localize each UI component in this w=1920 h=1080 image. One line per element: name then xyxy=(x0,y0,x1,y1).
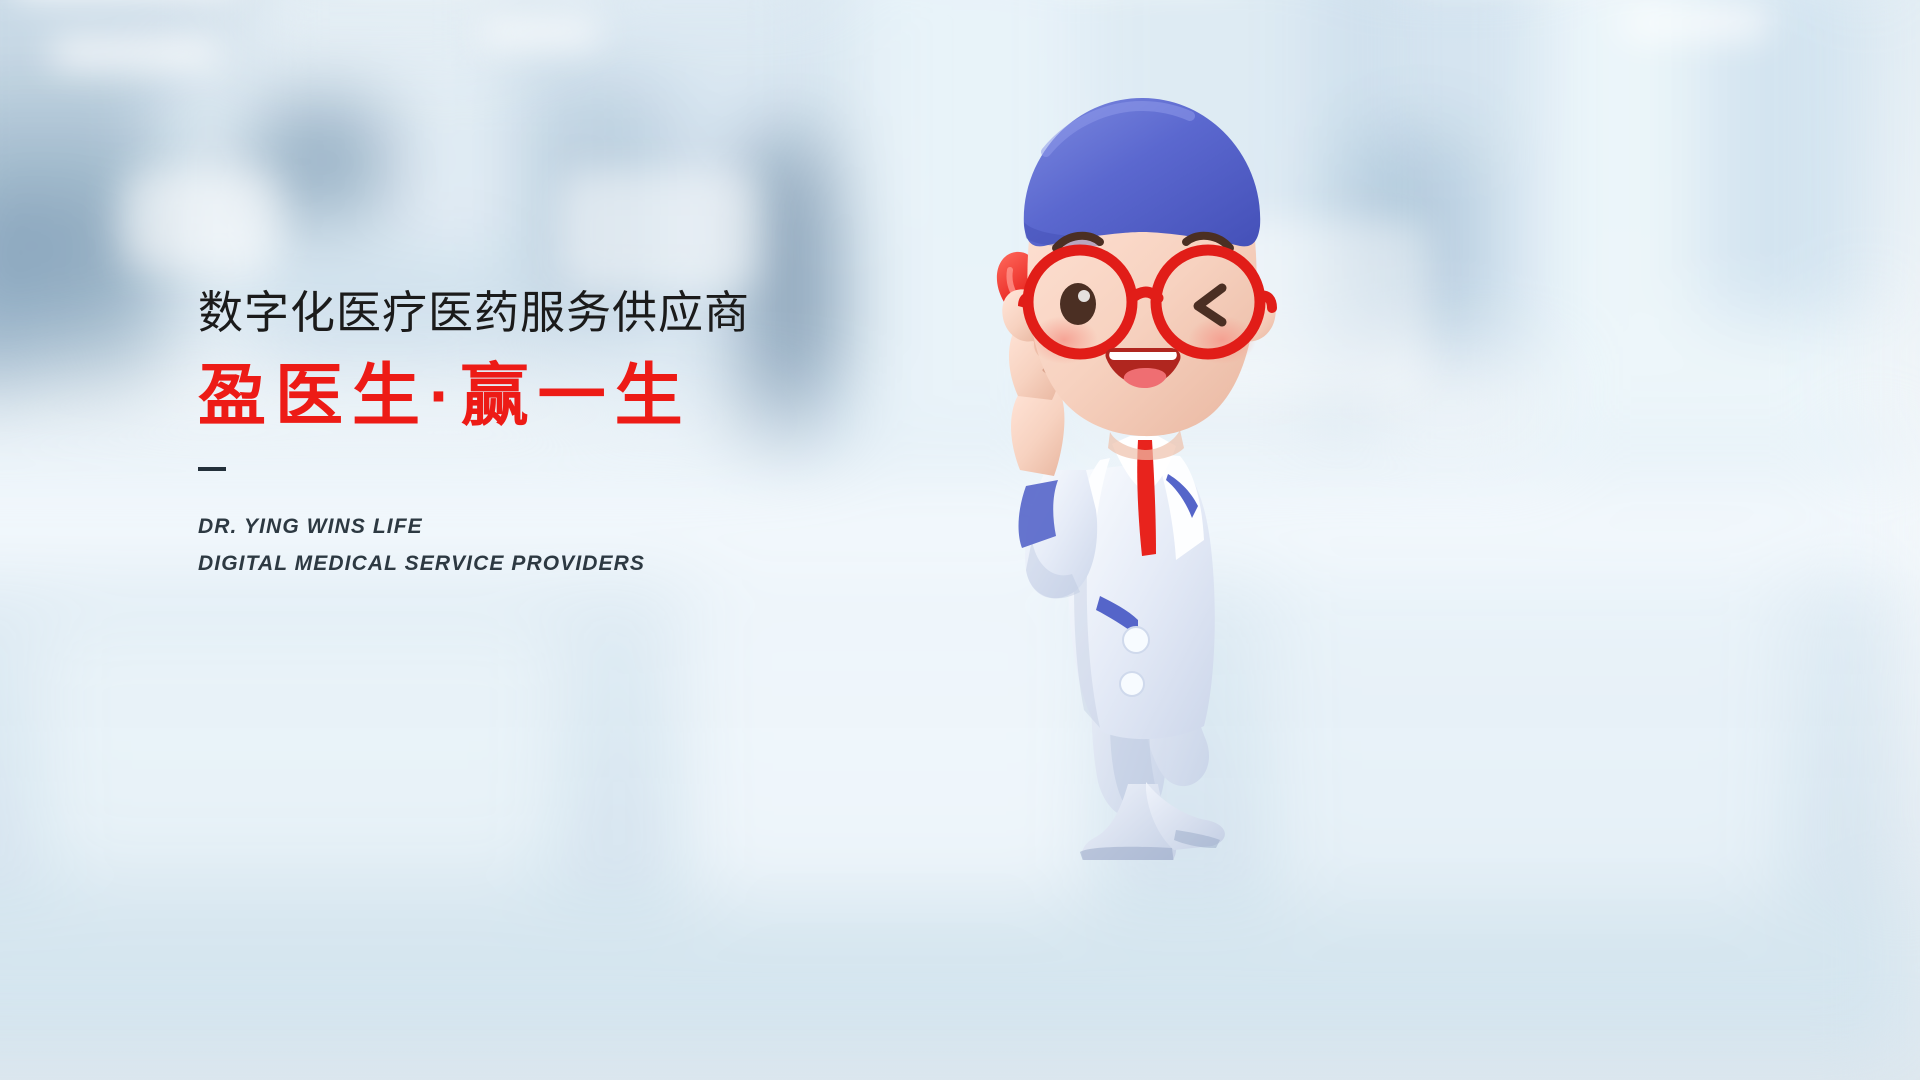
subtitle-block: DR. YING WINS LIFE DIGITAL MEDICAL SERVI… xyxy=(198,509,958,583)
divider-dash xyxy=(198,467,226,471)
hero-banner: 数字化医疗医药服务供应商 盈医生·赢一生 DR. YING WINS LIFE … xyxy=(0,0,1920,1080)
hero-text-block: 数字化医疗医药服务供应商 盈医生·赢一生 DR. YING WINS LIFE … xyxy=(198,288,958,582)
lab-coat xyxy=(1068,436,1214,739)
subtitle-line-2: DIGITAL MEDICAL SERVICE PROVIDERS xyxy=(198,546,958,583)
tagline-slogan: 盈医生·赢一生 xyxy=(198,360,958,433)
shoes xyxy=(1080,782,1225,860)
subtitle-line-1: DR. YING WINS LIFE xyxy=(198,509,958,546)
eye-open xyxy=(1060,283,1096,325)
cartoon-doctor-mascot xyxy=(960,40,1380,860)
page-title: 数字化医疗医药服务供应商 xyxy=(198,288,958,338)
